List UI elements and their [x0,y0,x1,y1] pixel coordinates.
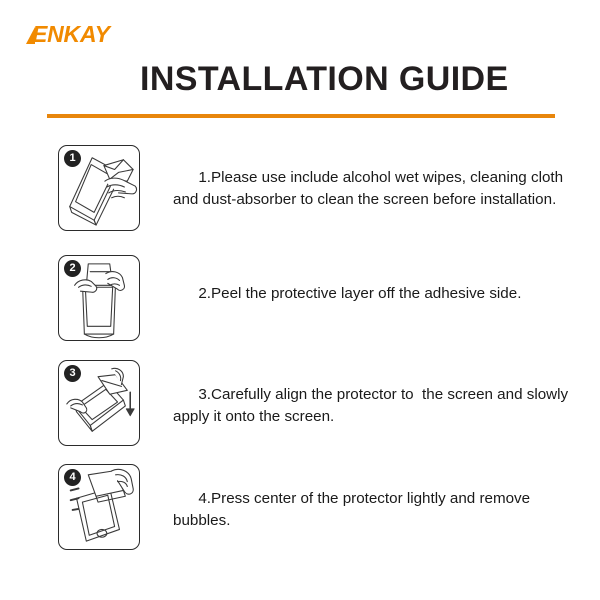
step-figure: 3 [58,360,140,446]
step-body: Carefully align the protector to the scr… [173,386,572,426]
step-figure: 2 [58,255,140,341]
step-number: 4. [198,490,211,507]
step-number: 3. [198,386,211,403]
step-badge: 2 [64,260,81,277]
brand-name: ENKAY [32,23,110,46]
step-figure: 1 [58,145,140,231]
step-badge: 3 [64,365,81,382]
step-text: 2.Peel the protective layer off the adhe… [156,248,521,328]
step-number: 1. [198,169,211,186]
step-body: Press center of the protector lightly an… [173,490,534,530]
steps-list: 1 [0,138,600,561]
step-body: Peel the protective layer off the adhesi… [211,285,521,302]
chevron-mark-icon [26,27,35,44]
page-title: INSTALLATION GUIDE [140,60,509,99]
list-item: 2 [0,248,600,353]
step-number: 2. [198,285,211,302]
list-item: 4 [0,457,600,561]
step-text: 1.Please use include alcohol wet wipes, … [156,138,578,234]
list-item: 1 [0,138,600,248]
step-badge: 1 [64,150,81,167]
list-item: 3 [0,353,600,457]
step-text: 4.Press center of the protector lightly … [156,457,578,555]
step-badge: 4 [64,469,81,486]
brand-logo: ENKAY [26,20,110,48]
step-text: 3.Carefully align the protector to the s… [156,353,578,451]
step-figure: 4 [58,464,140,550]
step-body: Please use include alcohol wet wipes, cl… [173,169,567,209]
header-divider [47,114,555,118]
